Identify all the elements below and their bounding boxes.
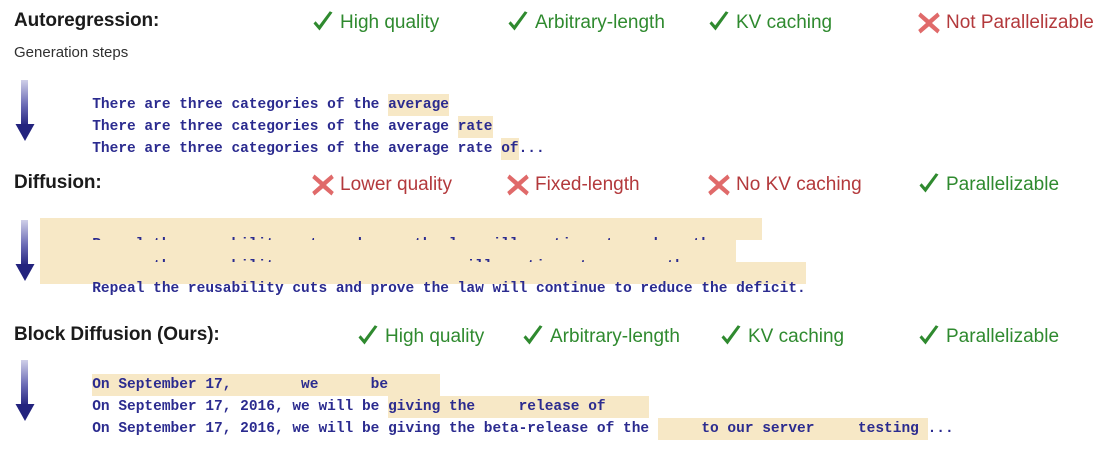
- code-segment: There are three categories of the averag…: [92, 138, 501, 160]
- badge-fixed-length: Fixed-length: [505, 172, 640, 198]
- section-title: Autoregression:: [14, 10, 159, 32]
- badge-label: Arbitrary-length: [550, 324, 680, 350]
- check-icon: [916, 324, 942, 350]
- check-icon: [505, 10, 531, 36]
- section-title: Diffusion:: [14, 172, 102, 194]
- check-icon: [520, 324, 546, 350]
- cross-icon: [916, 10, 942, 36]
- check-icon: [706, 10, 732, 36]
- slide-canvas: Autoregression: High quality Arbitrary-l…: [0, 0, 1120, 436]
- cross-icon: [310, 172, 336, 198]
- badge-arbitrary-length: Arbitrary-length: [520, 324, 680, 350]
- badge-label: Lower quality: [340, 172, 452, 198]
- code-row: There are three categories of the averag…: [40, 78, 449, 100]
- badge-label: Fixed-length: [535, 172, 640, 198]
- badge-not-parallelizable: Not Parallelizable: [916, 10, 1094, 36]
- code-segment: ...: [928, 418, 954, 440]
- badge-kv-caching: KV caching: [706, 10, 832, 36]
- check-icon: [916, 172, 942, 198]
- badge-arbitrary-length: Arbitrary-length: [505, 10, 665, 36]
- code-row: On September 17, 2016, we will be giving…: [40, 402, 954, 424]
- badge-high-quality: High quality: [310, 10, 439, 36]
- check-icon: [718, 324, 744, 350]
- badge-label: Parallelizable: [946, 172, 1059, 198]
- badge-label: High quality: [340, 10, 439, 36]
- code-row: the reusability will continue to the: [40, 240, 736, 262]
- code-segment-highlighted: of: [501, 138, 518, 160]
- code-row: On September 17, 2016, we will be giving…: [40, 380, 649, 402]
- badge-label: KV caching: [736, 10, 832, 36]
- code-row: There are three categories of the averag…: [40, 122, 545, 144]
- down-arrow-icon: [14, 220, 36, 282]
- generation-steps-label: Generation steps: [14, 44, 128, 61]
- cross-icon: [505, 172, 531, 198]
- cross-icon: [706, 172, 732, 198]
- check-icon: [355, 324, 381, 350]
- code-segment-highlighted: to our server testing: [658, 418, 928, 440]
- code-row: There are three categories of the averag…: [40, 100, 493, 122]
- down-arrow-icon: [14, 360, 36, 422]
- code-segment: On September 17, 2016, we will be giving…: [92, 418, 658, 440]
- badge-label: Parallelizable: [946, 324, 1059, 350]
- badge-parallelizable: Parallelizable: [916, 172, 1059, 198]
- badge-no-kv-caching: No KV caching: [706, 172, 862, 198]
- badge-label: Not Parallelizable: [946, 10, 1094, 36]
- badge-high-quality: High quality: [355, 324, 484, 350]
- badge-kv-caching: KV caching: [718, 324, 844, 350]
- section-title: Block Diffusion (Ours):: [14, 324, 220, 346]
- code-row: On September 17, we be: [40, 358, 440, 380]
- badge-parallelizable: Parallelizable: [916, 324, 1059, 350]
- code-row: Repeal the reusability cuts and the law …: [40, 218, 762, 240]
- badge-label: Arbitrary-length: [535, 10, 665, 36]
- badge-label: High quality: [385, 324, 484, 350]
- code-segment: Repeal the reusability cuts and prove th…: [92, 278, 806, 300]
- badge-lower-quality: Lower quality: [310, 172, 452, 198]
- check-icon: [310, 10, 336, 36]
- code-row: Repeal the reusability cuts and prove th…: [40, 262, 806, 284]
- badge-label: No KV caching: [736, 172, 862, 198]
- code-segment: ...: [519, 138, 545, 160]
- down-arrow-icon: [14, 80, 36, 142]
- badge-label: KV caching: [748, 324, 844, 350]
